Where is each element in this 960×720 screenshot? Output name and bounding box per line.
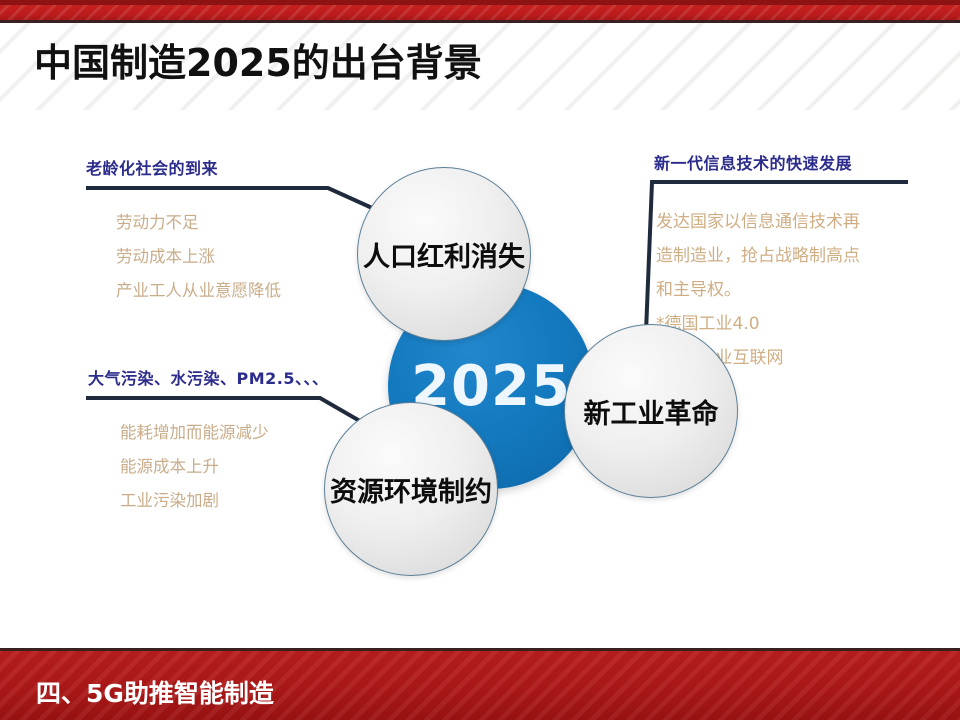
callout-bottom-left-heading: 大气污染、水污染、PM2.5、、、 [88, 365, 329, 389]
node-new-industrial-revolution-label: 新工业革命 [584, 392, 719, 431]
callout-top-left-item-2: 劳动成本上涨 [116, 243, 215, 267]
slide-canvas: 中国制造2025的出台背景 2025 人口红利消失 资源环境制约 新工业革命 老… [0, 0, 960, 720]
node-population-dividend[interactable]: 人口红利消失 [357, 167, 531, 341]
callout-bottom-left-item-3: 工业污染加剧 [120, 487, 219, 511]
callout-top-left-heading: 老龄化社会的到来 [86, 155, 218, 179]
callout-bottom-left-item-1: 能耗增加而能源减少 [120, 419, 269, 443]
callout-bottom-left-item-2: 能源成本上升 [120, 453, 219, 477]
callout-top-left-item-3: 产业工人从业意愿降低 [116, 277, 281, 301]
header-red-band [0, 5, 960, 20]
footer-section-label: 四、5G助推智能制造 [36, 674, 274, 710]
callout-right-item-3: 和主导权。 [656, 275, 741, 300]
page-title: 中国制造2025的出台背景 [34, 44, 482, 82]
node-resource-constraint[interactable]: 资源环境制约 [324, 402, 498, 576]
callout-right-item-1: 发达国家以信息通信技术再 [656, 207, 860, 232]
node-new-industrial-revolution[interactable]: 新工业革命 [564, 324, 738, 498]
callout-right-item-2: 造制造业，抢占战略制高点 [656, 241, 860, 266]
node-population-dividend-label: 人口红利消失 [363, 235, 525, 274]
callout-top-left-item-1: 劳动力不足 [116, 209, 199, 233]
callout-right-heading: 新一代信息技术的快速发展 [654, 150, 852, 174]
node-resource-constraint-label: 资源环境制约 [330, 470, 492, 509]
